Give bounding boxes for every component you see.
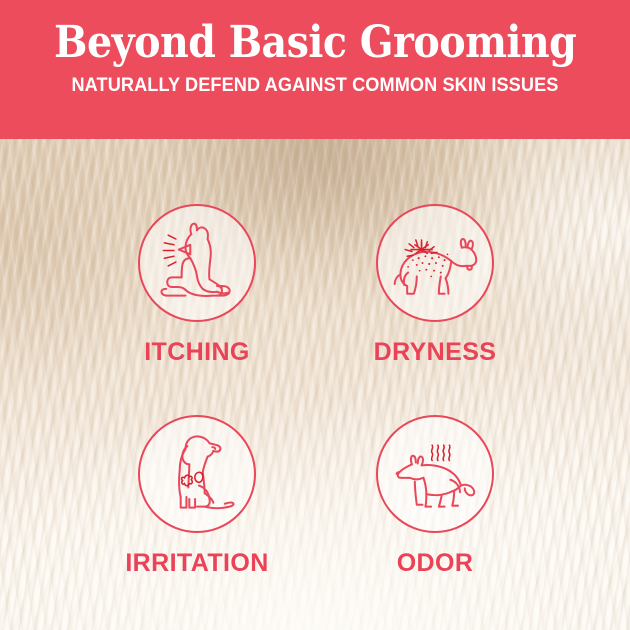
dryness-label: DRYNESS bbox=[374, 338, 497, 366]
dog-flaky-skin-icon bbox=[387, 215, 483, 311]
itching-icon-circle bbox=[138, 204, 256, 322]
grid-item-itching: ITCHING bbox=[82, 204, 312, 366]
dog-sitting-rash-icon bbox=[149, 426, 245, 522]
grid-item-dryness: DRYNESS bbox=[320, 204, 550, 366]
dog-scratching-icon bbox=[149, 215, 245, 311]
benefits-grid: ITCHING bbox=[0, 139, 630, 630]
dog-odor-waves-icon bbox=[387, 426, 483, 522]
dryness-icon-circle bbox=[376, 204, 494, 322]
itching-label: ITCHING bbox=[144, 338, 250, 366]
odor-label: ODOR bbox=[397, 549, 474, 577]
page-title: Beyond Basic Grooming bbox=[54, 18, 576, 68]
irritation-icon-circle bbox=[138, 415, 256, 533]
grid-item-irritation: IRRITATION bbox=[82, 415, 312, 577]
page-subtitle: NATURALLY DEFEND AGAINST COMMON SKIN ISS… bbox=[71, 75, 558, 97]
promo-poster: Beyond Basic Grooming NATURALLY DEFEND A… bbox=[0, 0, 630, 630]
grid-item-odor: ODOR bbox=[320, 415, 550, 577]
header-banner: Beyond Basic Grooming NATURALLY DEFEND A… bbox=[0, 0, 630, 139]
odor-icon-circle bbox=[376, 415, 494, 533]
irritation-label: IRRITATION bbox=[125, 549, 268, 577]
